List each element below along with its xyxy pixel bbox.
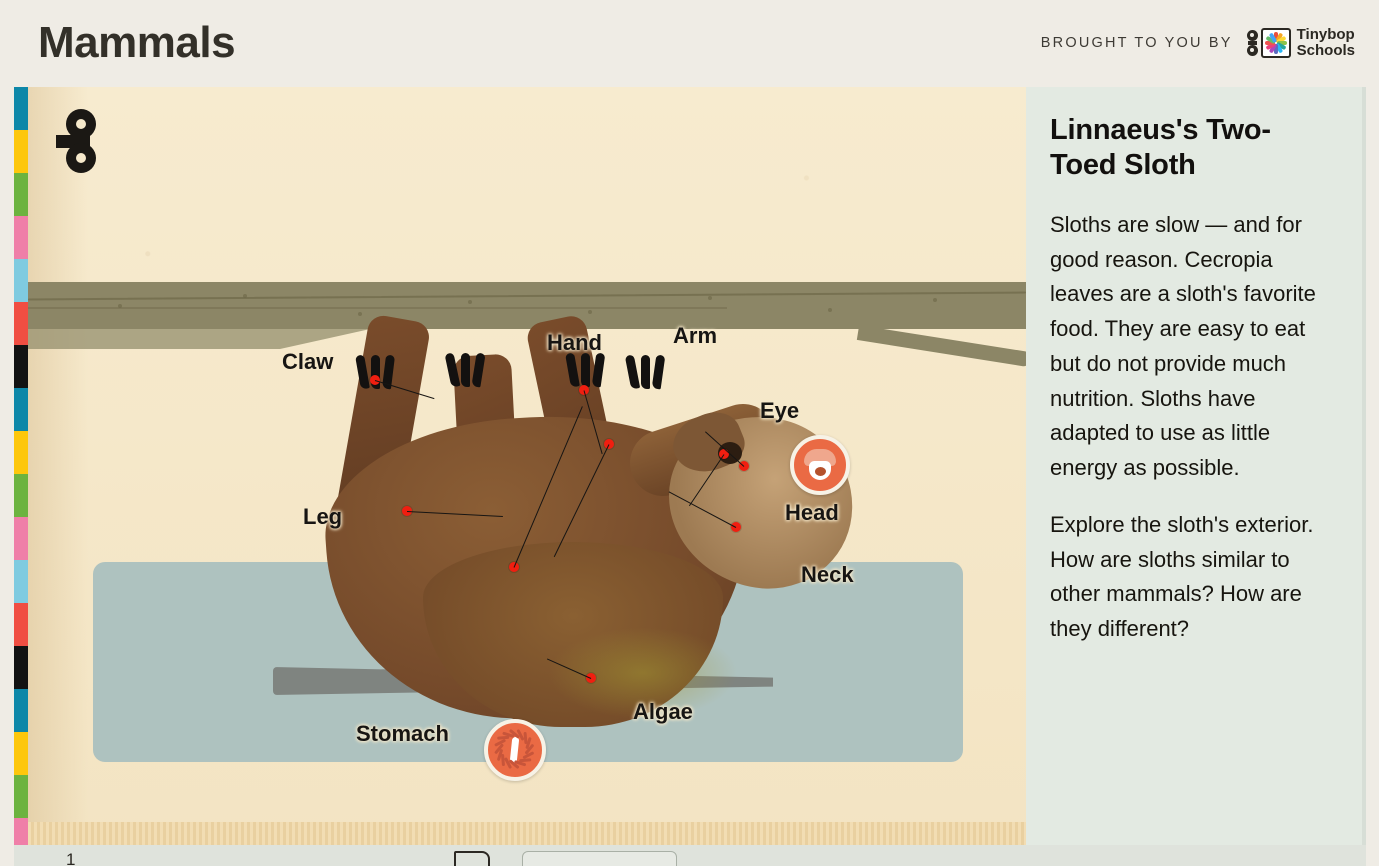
tinybop-pinwheel-icon — [1261, 28, 1291, 58]
color-strip-segment — [14, 646, 28, 689]
footer-input[interactable] — [522, 851, 677, 866]
info-sidebar: Linnaeus's Two-Toed Sloth Sloths are slo… — [1026, 87, 1366, 845]
color-strip-segment — [14, 560, 28, 603]
anatomy-label-head: Head — [785, 500, 839, 526]
page-number: 1 — [66, 850, 75, 866]
anatomy-label-neck: Neck — [801, 562, 854, 588]
color-strip-segment — [14, 732, 28, 775]
color-strip-segment — [14, 603, 28, 646]
species-title: Linnaeus's Two-Toed Sloth — [1050, 113, 1336, 184]
content-stage: ClawHandArmEyeHeadNeckLegStomachAlgae — [14, 87, 1366, 845]
description-paragraph-2: Explore the sloth's exterior. How are sl… — [1050, 508, 1336, 647]
anatomy-label-algae: Algae — [633, 699, 693, 725]
anatomy-label-leg: Leg — [303, 504, 342, 530]
mouth-hotspot[interactable] — [790, 435, 850, 495]
fur-hair-icon — [492, 727, 538, 773]
sloth-claw-group-1 — [358, 355, 410, 391]
tinybop-key-icon — [56, 107, 98, 177]
app-header: Mammals BROUGHT TO YOU BY Tinybop School… — [0, 0, 1379, 85]
fur-hotspot[interactable] — [484, 719, 546, 781]
bottom-toolbar[interactable]: 1 — [14, 845, 1366, 866]
tinybop-logo[interactable]: Tinybop Schools — [1247, 27, 1355, 58]
anatomy-label-claw: Claw — [282, 349, 333, 375]
anatomy-label-arm: Arm — [673, 323, 717, 349]
color-strip-segment — [14, 517, 28, 560]
page-title: Mammals — [38, 21, 235, 65]
tree-branch — [28, 282, 1026, 329]
sloth-illustration-canvas[interactable]: ClawHandArmEyeHeadNeckLegStomachAlgae — [28, 87, 1026, 845]
color-strip-segment — [14, 87, 28, 130]
brand-name: Tinybop Schools — [1297, 27, 1355, 58]
anatomy-label-eye: Eye — [760, 398, 799, 424]
color-strip-segment — [14, 216, 28, 259]
canvas-vignette — [28, 87, 88, 845]
app-window: Mammals BROUGHT TO YOU BY Tinybop School… — [0, 0, 1379, 866]
sidebar-edge — [1362, 87, 1366, 845]
brought-to-you-by-label: BROUGHT TO YOU BY — [1041, 35, 1233, 51]
color-strip-segment — [14, 775, 28, 818]
color-strip — [14, 87, 28, 845]
color-strip-segment — [14, 388, 28, 431]
color-strip-segment — [14, 302, 28, 345]
color-strip-segment — [14, 689, 28, 732]
color-strip-segment — [14, 259, 28, 302]
color-strip-segment — [14, 345, 28, 388]
sloth-claw-group-3 — [568, 353, 620, 389]
anatomy-label-stomach: Stomach — [356, 721, 449, 747]
ground-sand — [28, 822, 1026, 845]
brand-block: BROUGHT TO YOU BY Tinybop Schools — [1041, 27, 1355, 58]
sloth-claw-group-2 — [448, 353, 500, 389]
color-strip-segment — [14, 173, 28, 216]
note-icon[interactable] — [454, 851, 490, 866]
sloth-claw-group-4 — [628, 355, 680, 391]
color-strip-segment — [14, 431, 28, 474]
tinybop-key-logo-icon — [1247, 30, 1258, 56]
anatomy-label-hand: Hand — [547, 330, 602, 356]
color-strip-segment — [14, 130, 28, 173]
mouth-teeth-icon — [802, 449, 838, 481]
color-strip-segment — [14, 474, 28, 517]
description-paragraph-1: Sloths are slow — and for good reason. C… — [1050, 208, 1336, 486]
